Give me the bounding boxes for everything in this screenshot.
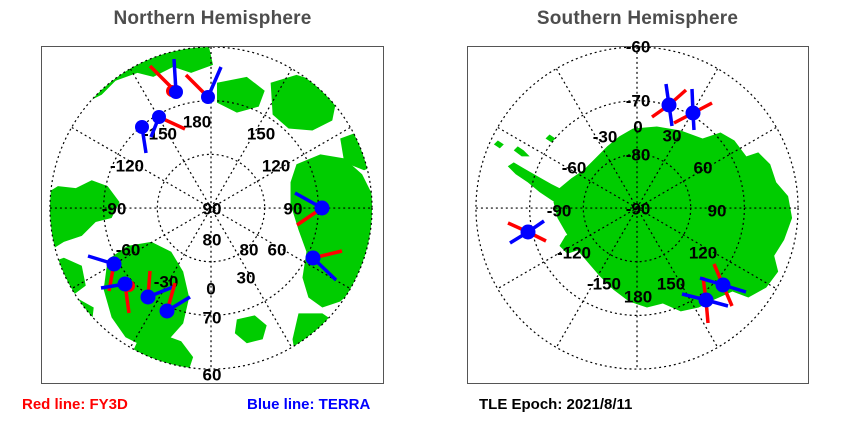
grid-label: 90 xyxy=(203,201,222,218)
grid-label: -60 xyxy=(116,242,141,259)
grid-label: 90 xyxy=(284,201,303,218)
legend-row: Red line: FY3D Blue line: TERRA TLE Epoc… xyxy=(0,396,850,420)
grid-label: -30 xyxy=(154,274,179,291)
grid-label: 120 xyxy=(262,158,290,175)
grid-label: 0 xyxy=(206,281,215,298)
grid-label: 0 xyxy=(633,119,642,136)
northern-hemisphere-plot-frame: 180 150 120 90 60 30 0 -30 -60 -90 -120 … xyxy=(41,46,384,384)
grid-label: -120 xyxy=(110,158,144,175)
grid-label: 30 xyxy=(663,128,682,145)
panel-southern-hemisphere: Southern Hemisphere xyxy=(425,0,850,425)
grid-label: -150 xyxy=(587,276,621,293)
grid-label: 90 xyxy=(708,203,727,220)
grid-label: -90 xyxy=(626,201,651,218)
southern-hemisphere-plot-frame: -60 -70 -80 -90 0 30 60 90 120 150 180 -… xyxy=(467,46,809,384)
grid-label: 150 xyxy=(657,276,685,293)
grid-label: 60 xyxy=(203,367,222,384)
grid-label: 30 xyxy=(237,270,256,287)
grid-label: -80 xyxy=(626,147,651,164)
figure-root: Northern Hemisphere xyxy=(0,0,850,425)
grid-label: -60 xyxy=(562,160,587,177)
grid-label: -90 xyxy=(547,203,572,220)
grid-label: -150 xyxy=(143,126,177,143)
panel-northern-hemisphere: Northern Hemisphere xyxy=(0,0,425,425)
grid-label: -30 xyxy=(593,129,618,146)
grid-label: 120 xyxy=(689,245,717,262)
grid-label: -70 xyxy=(626,93,651,110)
grid-label: 180 xyxy=(183,114,211,131)
legend-red-line: Red line: FY3D xyxy=(22,396,128,413)
grid-label: 150 xyxy=(247,126,275,143)
grid-label: 80 xyxy=(240,242,259,259)
grid-label: -120 xyxy=(557,245,591,262)
grid-label: 80 xyxy=(203,232,222,249)
grid-label: 70 xyxy=(203,310,222,327)
grid-label: 60 xyxy=(694,160,713,177)
grid-label: 180 xyxy=(624,289,652,306)
grid-label: -60 xyxy=(626,39,651,56)
grid-label: 60 xyxy=(268,242,287,259)
legend-tle-epoch: TLE Epoch: 2021/8/11 xyxy=(479,396,632,413)
legend-blue-line: Blue line: TERRA xyxy=(247,396,370,413)
southern-hemisphere-title: Southern Hemisphere xyxy=(425,8,850,30)
grid-label: -90 xyxy=(102,201,127,218)
northern-hemisphere-title: Northern Hemisphere xyxy=(0,8,425,30)
